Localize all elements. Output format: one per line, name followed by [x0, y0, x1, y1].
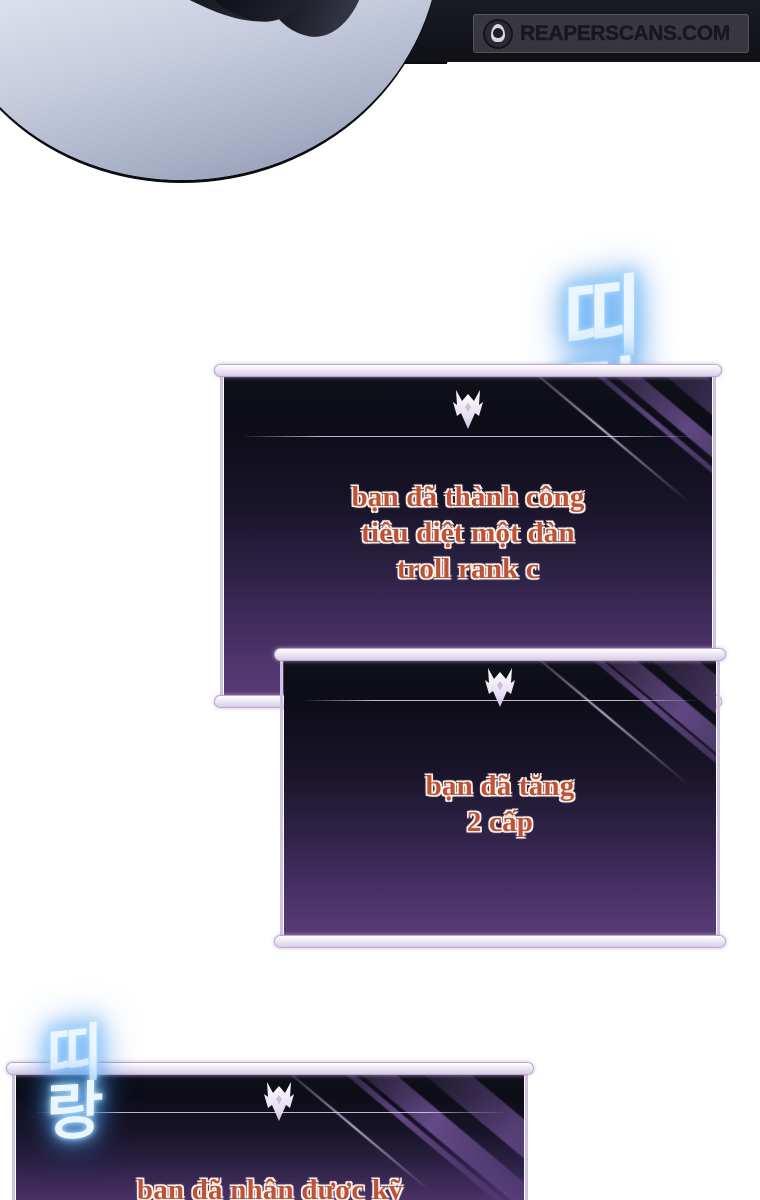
hair-stroke: [134, 0, 288, 36]
hair-stroke: [89, 0, 295, 14]
sfx-char-1: 띠: [562, 278, 643, 368]
system-message-box-3: bạn đã nhận được kỹ: [12, 1068, 528, 1200]
system-box-frame: [280, 654, 720, 942]
system-box-top-bar: [274, 648, 726, 661]
reaper-hood-icon: [483, 19, 513, 49]
system-box-top-bar: [6, 1062, 534, 1075]
hair-stroke: [247, 0, 379, 44]
hair-stroke: [201, 0, 310, 31]
system-box-top-bar: [214, 364, 722, 377]
system-message-box-2: bạn đã tăng 2 cấp: [280, 654, 720, 942]
watermark: REAPERSCANS.COM: [473, 14, 749, 53]
webtoon-page: REAPERSCANS.COM 띠 랑: [0, 0, 760, 1200]
system-box-frame: [12, 1068, 528, 1200]
artwork-panel: REAPERSCANS.COM: [0, 0, 760, 190]
watermark-text: REAPERSCANS.COM: [520, 22, 730, 46]
character-hair-mass: [0, 0, 440, 180]
system-box-bottom-bar: [274, 935, 726, 948]
hair-stroke: [158, 0, 324, 11]
